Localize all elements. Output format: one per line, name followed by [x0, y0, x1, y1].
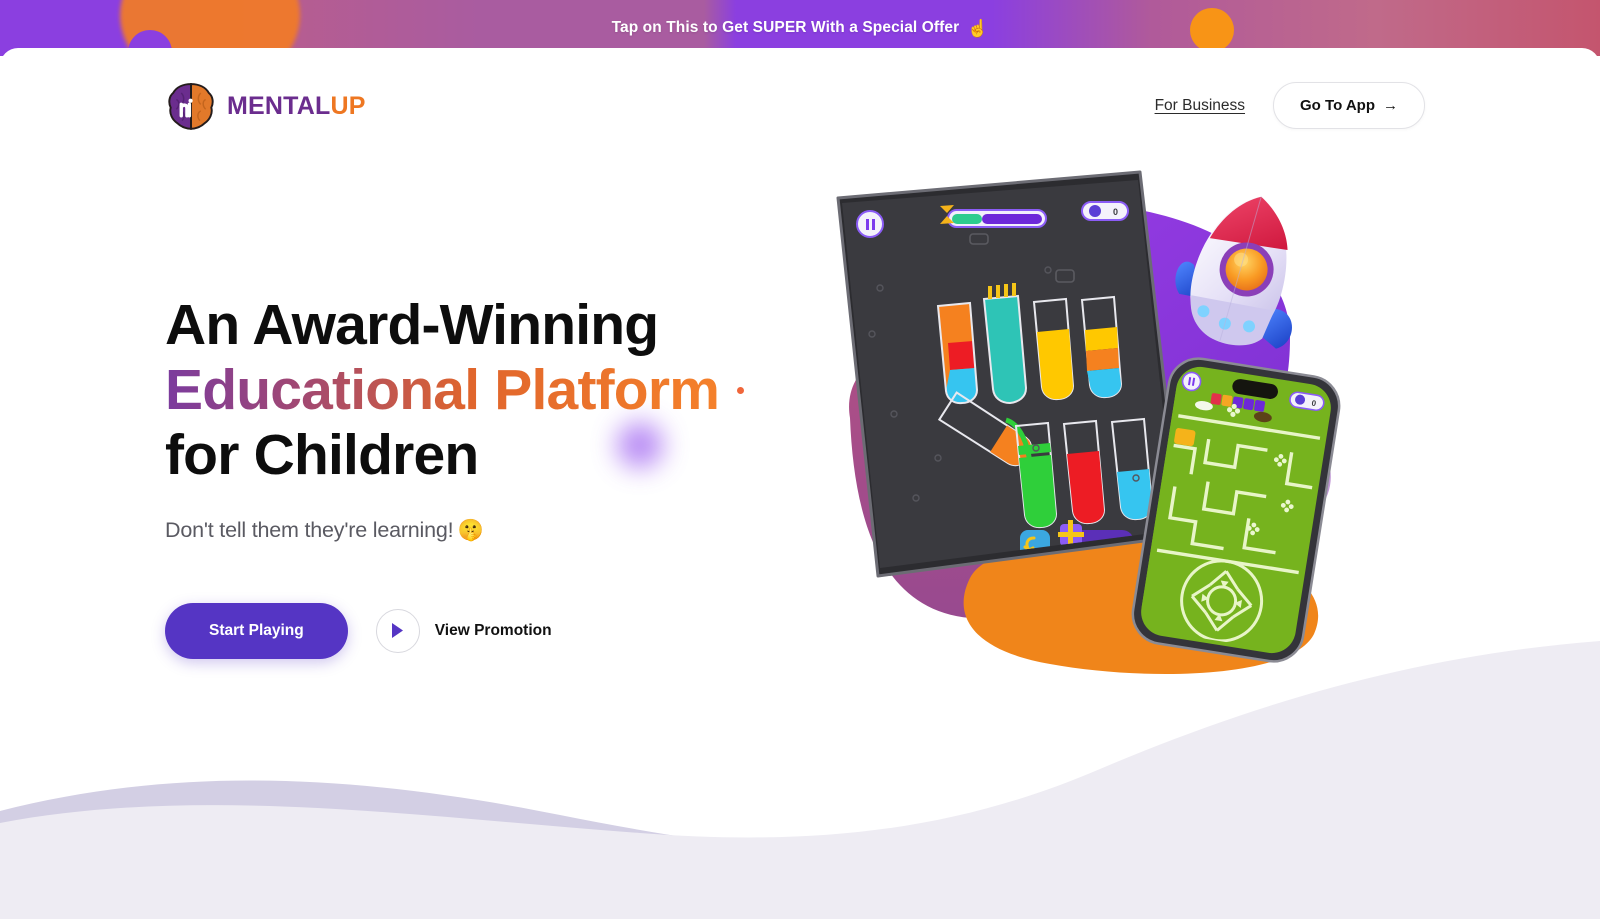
brain-icon — [165, 80, 217, 132]
play-triangle-glyph — [390, 622, 405, 639]
heading-glow-decoration — [617, 422, 663, 468]
view-promotion-button[interactable]: View Promotion — [376, 609, 552, 653]
page-sheet: MENTALUP For Business Go To App → An Awa… — [0, 48, 1600, 919]
go-to-app-label: Go To App — [1300, 97, 1375, 114]
view-promotion-label: View Promotion — [435, 622, 552, 640]
hero-heading: An Award-Winning Educational Platform fo… — [165, 293, 925, 488]
hero-copy: An Award-Winning Educational Platform fo… — [165, 293, 925, 659]
start-playing-button[interactable]: Start Playing — [165, 603, 348, 659]
pointing-hand-icon: ☝️ — [967, 20, 988, 37]
go-to-app-button[interactable]: Go To App → — [1273, 82, 1425, 129]
nav-item-for-business[interactable]: For Business — [1155, 97, 1245, 115]
arrow-right-icon: → — [1383, 97, 1398, 114]
site-header: MENTALUP For Business Go To App → — [0, 48, 1600, 158]
hero-subtitle-text: Don't tell them they're learning! — [165, 518, 453, 542]
brand-wordmark: MENTALUP — [227, 92, 366, 121]
header-nav: For Business Go To App → — [1155, 82, 1425, 129]
brand-word-mental: MENTAL — [227, 92, 331, 120]
play-triangle-icon — [376, 609, 420, 653]
hero-actions: Start Playing View Promotion — [165, 603, 925, 659]
hero-subtitle: Don't tell them they're learning!🤫 — [165, 518, 925, 543]
brand-logo[interactable]: MENTALUP — [165, 80, 366, 132]
hero-heading-line-2: Educational Platform — [165, 358, 719, 423]
hero-heading-line-3: for Children — [165, 423, 478, 487]
hero-heading-line-1: An Award-Winning — [165, 293, 658, 357]
heading-dot-decoration — [737, 387, 744, 394]
shushing-face-icon: 🤫 — [457, 519, 483, 542]
brand-word-up: UP — [331, 92, 366, 120]
banner-label: Tap on This to Get SUPER With a Special … — [612, 19, 960, 37]
hero-heading-line-2-wrap: Educational Platform — [165, 358, 719, 423]
svg-text:0: 0 — [1113, 207, 1118, 217]
